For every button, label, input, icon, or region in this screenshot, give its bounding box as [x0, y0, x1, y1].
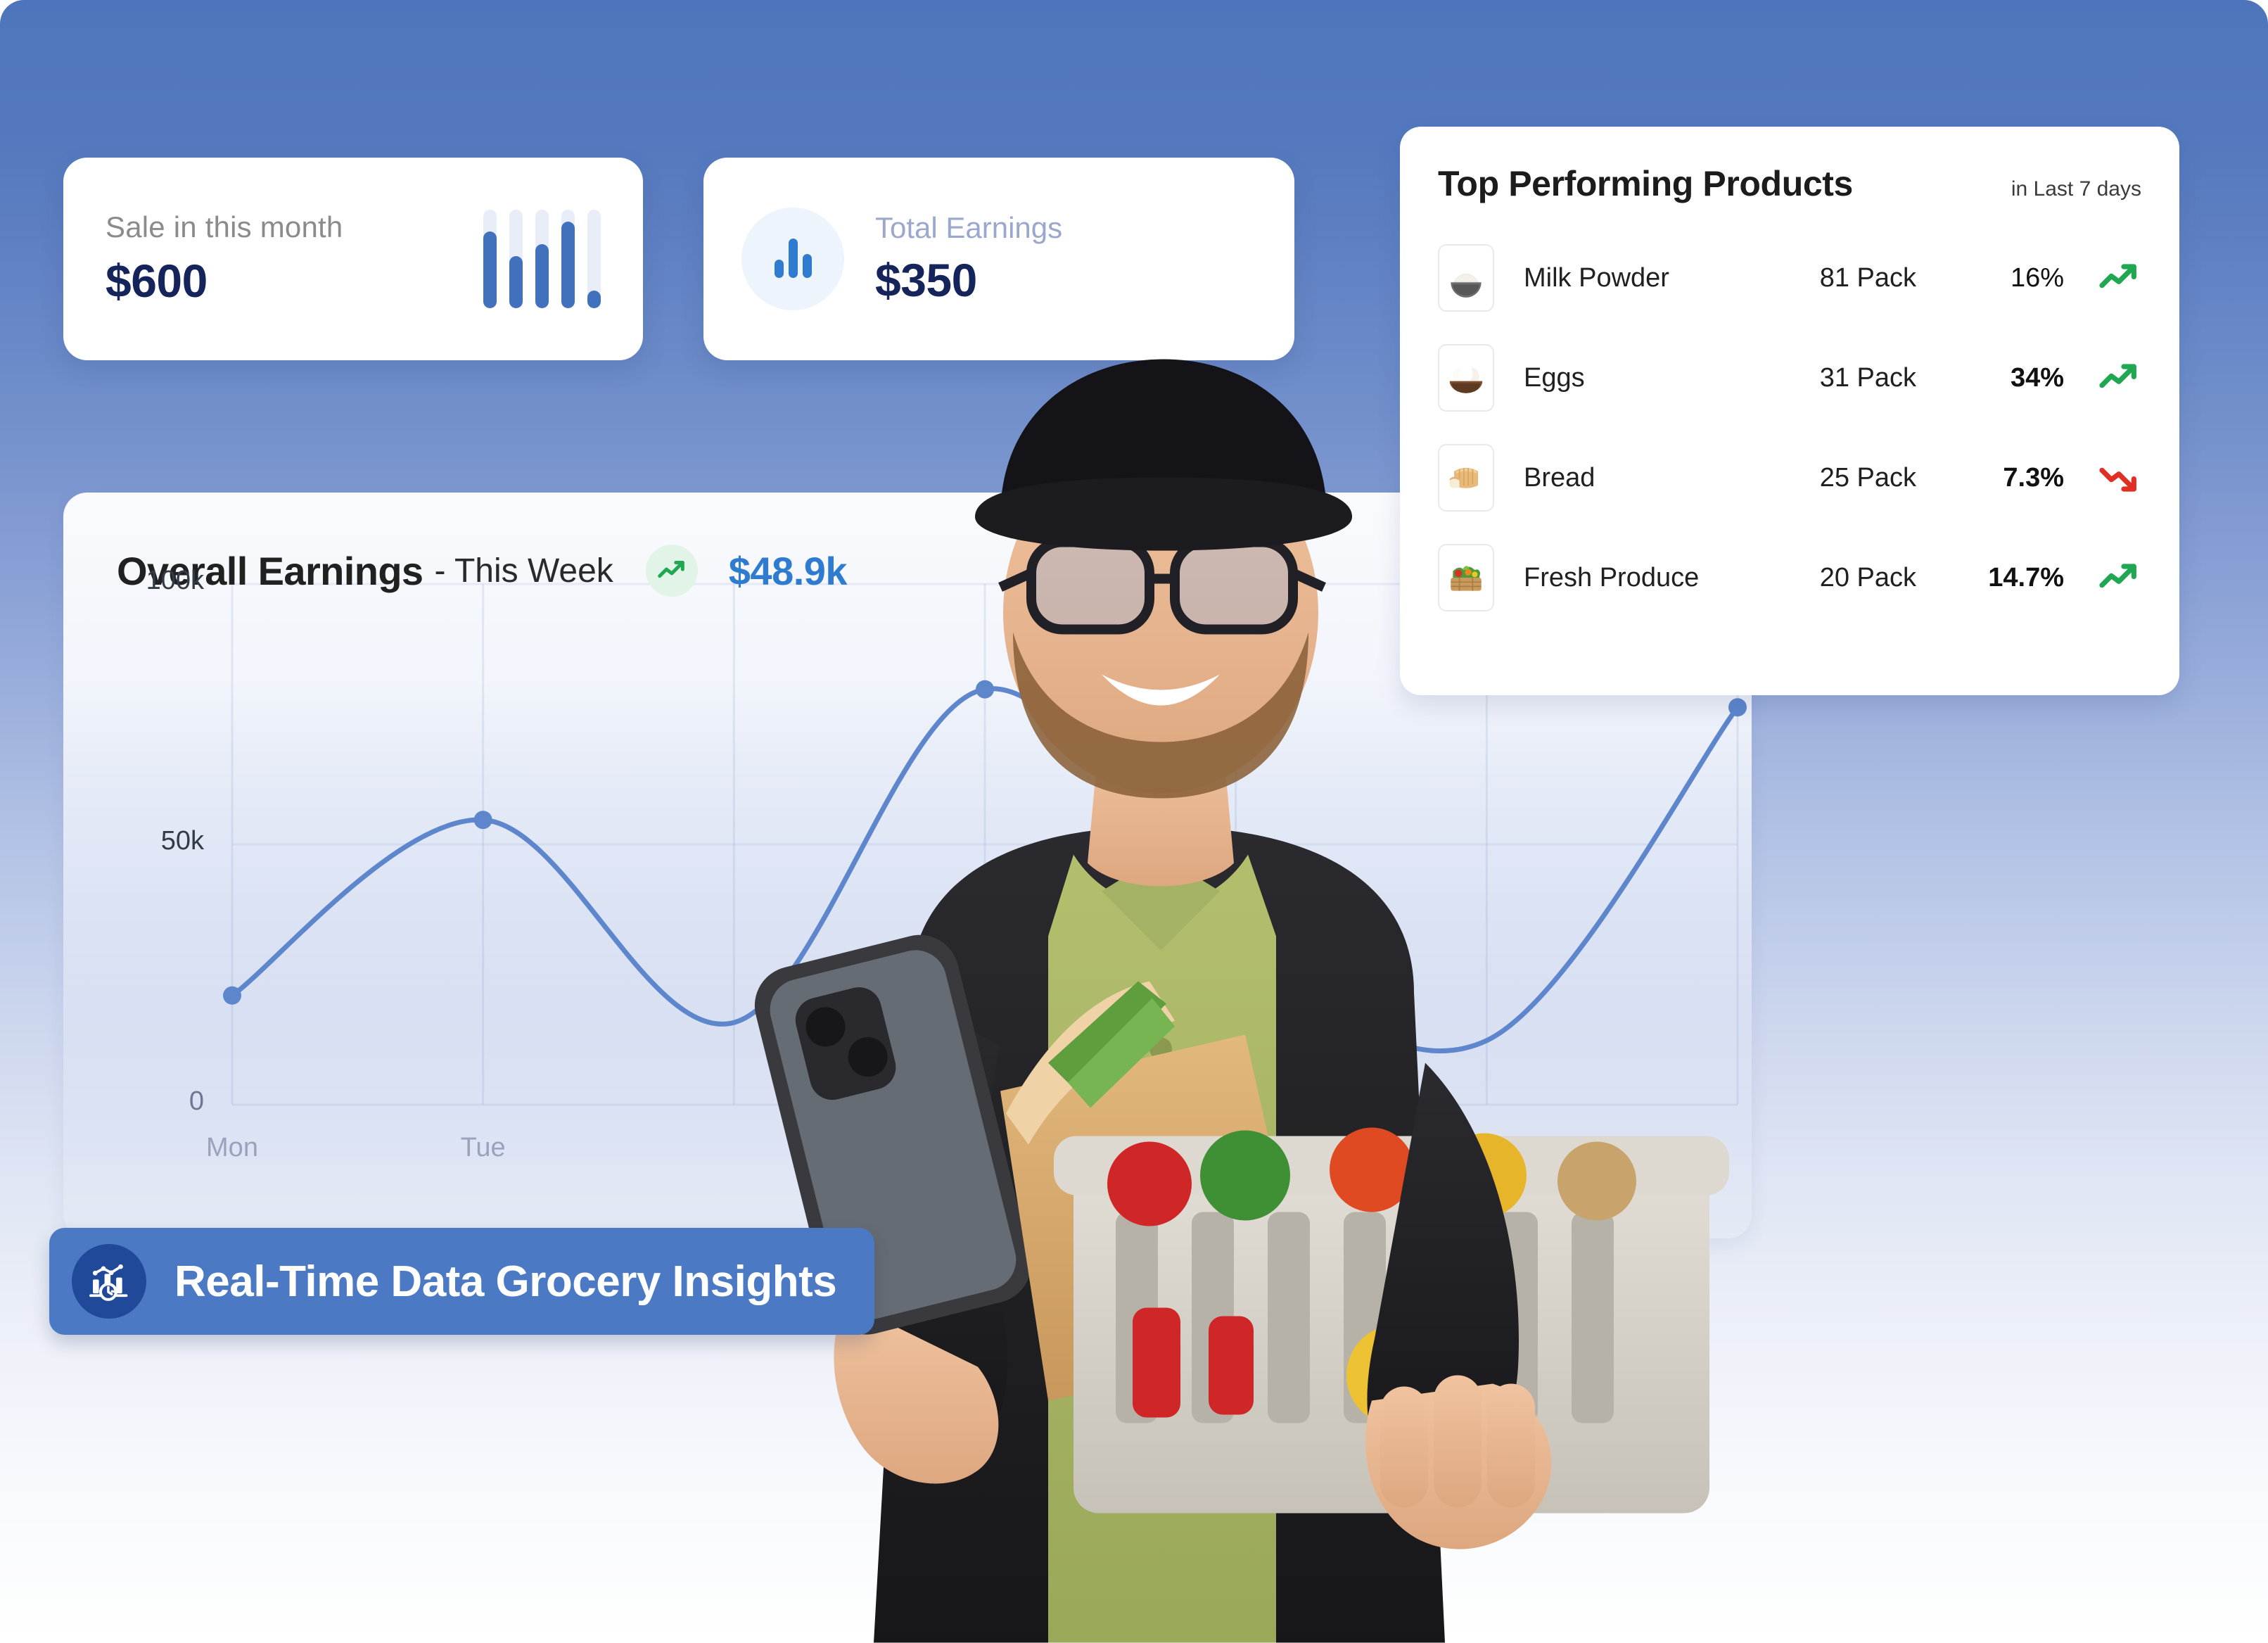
overall-earnings-period: - This Week	[434, 552, 613, 590]
products-subtitle: in Last 7 days	[2011, 177, 2141, 201]
sale-card-text: Sale in this month $600	[106, 210, 469, 307]
trend-up-icon	[2064, 255, 2141, 300]
sale-bar-5	[587, 210, 601, 308]
overall-earnings-header: Overall Earnings - This Week $48.9k	[117, 545, 847, 597]
y-axis-tick: 50k	[91, 826, 204, 856]
trend-up-icon	[2064, 555, 2141, 600]
product-change-percent: 16%	[1916, 263, 2064, 293]
product-change-percent: 14.7%	[1916, 563, 2064, 593]
product-change-percent: 7.3%	[1916, 463, 2064, 493]
product-row[interactable]: Bread25 Pack7.3%	[1438, 428, 2141, 528]
chart-data-point	[976, 680, 994, 699]
product-pack-count: 25 Pack	[1754, 463, 1916, 493]
bread-image	[1438, 444, 1494, 512]
chart-data-point	[474, 811, 492, 829]
x-axis-tick: Mon	[162, 1133, 302, 1163]
products-title: Top Performing Products	[1438, 163, 1853, 204]
chart-data-point	[1728, 698, 1747, 716]
sale-bar-fill	[561, 222, 575, 308]
sale-card: Sale in this month $600	[63, 158, 643, 360]
sale-bar-fill	[483, 231, 497, 308]
trend-down-icon	[2064, 455, 2141, 500]
product-row[interactable]: Milk Powder81 Pack16%	[1438, 228, 2141, 328]
total-earnings-card: Total Earnings $350	[703, 158, 1294, 360]
sale-bar-2	[509, 210, 523, 308]
dashboard-stage: Sale in this month $600 Total Earnings $…	[0, 0, 2268, 1643]
products-header: Top Performing Products in Last 7 days	[1438, 163, 2141, 204]
product-name: Bread	[1524, 463, 1754, 493]
top-performing-products-card: Top Performing Products in Last 7 days M…	[1400, 127, 2179, 695]
fresh-produce-image	[1438, 544, 1494, 611]
sale-bar-fill	[535, 244, 549, 308]
product-pack-count: 81 Pack	[1754, 263, 1916, 293]
total-earnings-value: $350	[875, 253, 1062, 307]
trend-up-icon	[2064, 355, 2141, 400]
product-row[interactable]: Eggs31 Pack34%	[1438, 328, 2141, 428]
product-pack-count: 20 Pack	[1754, 563, 1916, 593]
banner-label: Real-Time Data Grocery Insights	[174, 1257, 836, 1307]
sale-bar-fill	[587, 291, 601, 308]
trend-up-icon	[646, 545, 698, 597]
y-axis-tick: 0	[91, 1086, 204, 1117]
sale-bar-4	[561, 210, 575, 308]
bar-chart-icon	[741, 208, 844, 310]
bar-chart-icon	[483, 210, 601, 308]
product-change-percent: 34%	[1916, 363, 2064, 393]
chart-data-point	[223, 987, 241, 1005]
overall-earnings-total: $48.9k	[729, 548, 847, 594]
total-earnings-text: Total Earnings $350	[875, 211, 1062, 307]
sale-bar-1	[483, 210, 497, 308]
realtime-analytics-icon	[72, 1244, 146, 1319]
y-axis-tick: 100k	[91, 566, 204, 596]
product-row[interactable]: Fresh Produce20 Pack14.7%	[1438, 528, 2141, 628]
products-list: Milk Powder81 Pack16%Eggs31 Pack34%Bread…	[1438, 228, 2141, 628]
eggs-image	[1438, 344, 1494, 412]
total-earnings-label: Total Earnings	[875, 211, 1062, 245]
product-name: Eggs	[1524, 363, 1754, 393]
product-pack-count: 31 Pack	[1754, 363, 1916, 393]
sale-bar-3	[535, 210, 549, 308]
sale-card-value: $600	[106, 254, 469, 307]
milk-powder-image	[1438, 244, 1494, 312]
realtime-insights-banner[interactable]: Real-Time Data Grocery Insights	[49, 1228, 874, 1335]
x-axis-tick: Tue	[413, 1133, 554, 1163]
sale-bar-fill	[509, 256, 523, 308]
product-name: Milk Powder	[1524, 263, 1754, 293]
sale-card-label: Sale in this month	[106, 210, 469, 244]
product-name: Fresh Produce	[1524, 563, 1754, 593]
